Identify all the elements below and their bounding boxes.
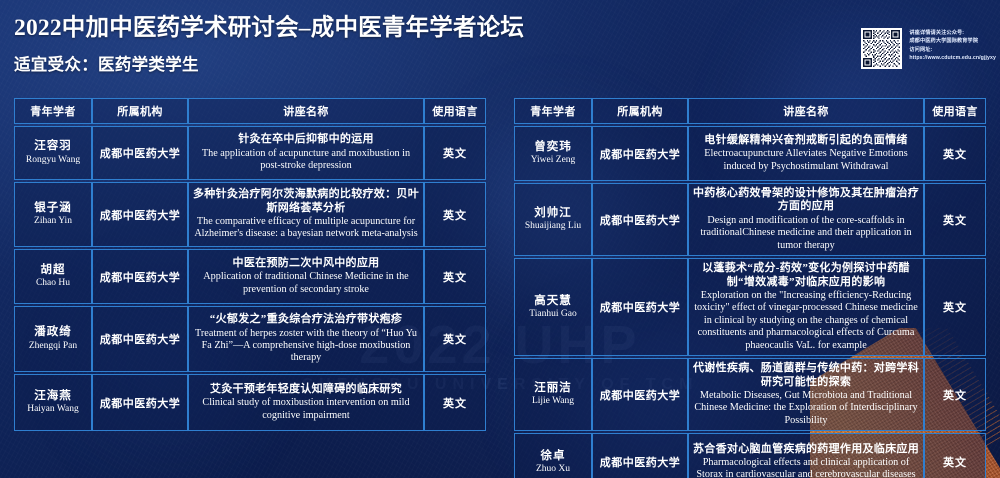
cell-scholar: 银子涵 Zihan Yin [14, 182, 92, 247]
scholar-name-zh: 高天慧 [517, 294, 589, 308]
cell-language: 英文 [924, 183, 986, 256]
scholar-name-en: Zhuo Xu [517, 464, 589, 476]
table-row[interactable]: 汪丽洁 Lijie Wang 成都中医药大学 代谢性疾病、肠道菌群与传统中药：对… [514, 358, 986, 431]
qr-caption-url[interactable]: https://www.cdutcm.edu.cn/gjjyxy [909, 54, 996, 62]
cell-topic: 针灸在卒中后抑郁中的运用 The application of acupunct… [188, 126, 424, 180]
cell-topic: 中医在预防二次中风中的应用 Application of traditional… [188, 249, 424, 304]
cell-organization: 成都中医药大学 [92, 249, 188, 304]
cell-language: 英文 [924, 433, 986, 478]
topic-en: Application of traditional Chinese Medic… [191, 271, 421, 296]
topic-en: Treatment of herpes zoster with the theo… [191, 328, 421, 365]
cell-scholar: 潘政绮 Zhengqi Pan [14, 306, 92, 372]
qr-caption-line-1: 讲座详情请关注公众号: [909, 29, 996, 37]
page-title: 2022中加中医药学术研讨会–成中医青年学者论坛 [14, 8, 524, 42]
cell-organization: 成都中医药大学 [592, 433, 688, 478]
cell-language: 英文 [424, 374, 486, 431]
scholar-name-zh: 潘政绮 [17, 325, 89, 339]
scholar-name-zh: 银子涵 [17, 201, 89, 215]
cell-language: 英文 [424, 126, 486, 180]
column-header-org: 所属机构 [592, 98, 688, 124]
cell-scholar: 刘帅江 Shuaijiang Liu [514, 183, 592, 256]
column-header-org: 所属机构 [92, 98, 188, 124]
topic-zh: “火郁发之”重灸综合疗法治疗带状疱疹 [191, 313, 421, 326]
cell-scholar: 曾奕玮 Yiwei Zeng [514, 126, 592, 181]
cell-language: 英文 [924, 358, 986, 431]
cell-organization: 成都中医药大学 [92, 374, 188, 431]
page-subtitle: 适宜受众：医药学类学生 [14, 51, 524, 75]
table-row[interactable]: 汪容羽 Rongyu Wang 成都中医药大学 针灸在卒中后抑郁中的运用 The… [14, 126, 486, 180]
topic-zh: 针灸在卒中后抑郁中的运用 [191, 133, 421, 146]
topic-en: Clinical study of moxibustion interventi… [191, 397, 421, 422]
qr-caption: 讲座详情请关注公众号: 成都中医药大学国际教育学院 访问网址: https://… [909, 28, 996, 63]
scholar-name-en: Haiyan Wang [17, 404, 89, 416]
topic-zh: 电针缓解精神兴奋剂戒断引起的负面情绪 [691, 134, 921, 147]
cell-topic: 代谢性疾病、肠道菌群与传统中药：对跨学科研究可能性的探索 Metabolic D… [688, 358, 924, 431]
scholar-name-en: Yiwei Zeng [517, 155, 589, 167]
cell-organization: 成都中医药大学 [592, 183, 688, 256]
cell-scholar: 汪丽洁 Lijie Wang [514, 358, 592, 431]
table-body: 曾奕玮 Yiwei Zeng 成都中医药大学 电针缓解精神兴奋剂戒断引起的负面情… [514, 126, 986, 478]
cell-language: 英文 [924, 258, 986, 356]
column-header-topic: 讲座名称 [688, 98, 924, 124]
cell-organization: 成都中医药大学 [592, 126, 688, 181]
scholar-name-zh: 刘帅江 [517, 206, 589, 220]
scholar-name-zh: 徐卓 [517, 449, 589, 463]
schedule-table-right: 青年学者 所属机构 讲座名称 使用语言 曾奕玮 Yiwei Zeng 成都中医药… [514, 96, 986, 478]
table-header-row: 青年学者 所属机构 讲座名称 使用语言 [514, 98, 986, 124]
table-row[interactable]: 潘政绮 Zhengqi Pan 成都中医药大学 “火郁发之”重灸综合疗法治疗带状… [14, 306, 486, 372]
qr-code-icon[interactable] [861, 28, 902, 69]
topic-zh: 中医在预防二次中风中的应用 [191, 257, 421, 270]
cell-scholar: 汪海燕 Haiyan Wang [14, 374, 92, 431]
topic-en: Pharmacological effects and clinical app… [691, 457, 921, 478]
cell-topic: 苏合香对心脑血管疾病的药理作用及临床应用 Pharmacological eff… [688, 433, 924, 478]
scholar-name-en: Lijie Wang [517, 396, 589, 408]
scholar-name-zh: 汪容羽 [17, 139, 89, 153]
schedule-table: 青年学者 所属机构 讲座名称 使用语言 曾奕玮 Yiwei Zeng 成都中医药… [514, 96, 986, 478]
table-row[interactable]: 高天慧 Tianhui Gao 成都中医药大学 以蓬莪术“成分-药效”变化为例探… [514, 258, 986, 356]
table-row[interactable]: 徐卓 Zhuo Xu 成都中医药大学 苏合香对心脑血管疾病的药理作用及临床应用 … [514, 433, 986, 478]
qr-caption-line-3: 访问网址: [909, 46, 996, 54]
cell-language: 英文 [924, 126, 986, 181]
cell-topic: 多种针灸治疗阿尔茨海默病的比较疗效：贝叶斯网络荟萃分析 The comparat… [188, 182, 424, 247]
scholar-name-en: Chao Hu [17, 278, 89, 290]
scholar-name-en: Rongyu Wang [17, 155, 89, 167]
scholar-name-en: Tianhui Gao [517, 309, 589, 321]
cell-organization: 成都中医药大学 [92, 126, 188, 180]
cell-organization: 成都中医药大学 [592, 258, 688, 356]
qr-caption-line-2: 成都中医药大学国际教育学院 [909, 37, 996, 45]
topic-zh: 艾灸干预老年轻度认知障碍的临床研究 [191, 383, 421, 396]
topic-en: Metabolic Diseases, Gut Microbiota and T… [691, 390, 921, 427]
cell-organization: 成都中医药大学 [92, 182, 188, 247]
column-header-scholar: 青年学者 [14, 98, 92, 124]
schedule-table: 青年学者 所属机构 讲座名称 使用语言 汪容羽 Rongyu Wang 成都中医… [14, 96, 486, 433]
cell-topic: 电针缓解精神兴奋剂戒断引起的负面情绪 Electroacupuncture Al… [688, 126, 924, 181]
topic-en: The comparative efficacy of multiple acu… [191, 216, 421, 241]
cell-scholar: 高天慧 Tianhui Gao [514, 258, 592, 356]
topic-zh: 多种针灸治疗阿尔茨海默病的比较疗效：贝叶斯网络荟萃分析 [191, 188, 421, 215]
cell-language: 英文 [424, 182, 486, 247]
table-header: 青年学者 所属机构 讲座名称 使用语言 [14, 98, 486, 124]
cell-topic: 中药核心药效骨架的设计修饰及其在肿瘤治疗方面的应用 Design and mod… [688, 183, 924, 256]
topic-zh: 以蓬莪术“成分-药效”变化为例探讨中药醋制“增效减毒”对临床应用的影响 [691, 262, 921, 289]
poster-canvas: 2022 UHP CHENGDU UNIVERSITY OF TCM 2022中… [0, 0, 1000, 478]
scholar-name-zh: 汪海燕 [17, 389, 89, 403]
cell-scholar: 汪容羽 Rongyu Wang [14, 126, 92, 180]
topic-en: The application of acupuncture and moxib… [191, 148, 421, 173]
column-header-language: 使用语言 [424, 98, 486, 124]
topic-en: Exploration on the "Increasing efficienc… [691, 290, 921, 352]
cell-organization: 成都中医药大学 [592, 358, 688, 431]
cell-organization: 成都中医药大学 [92, 306, 188, 372]
topic-zh: 苏合香对心脑血管疾病的药理作用及临床应用 [691, 443, 921, 456]
scholar-name-zh: 曾奕玮 [517, 140, 589, 154]
table-row[interactable]: 刘帅江 Shuaijiang Liu 成都中医药大学 中药核心药效骨架的设计修饰… [514, 183, 986, 256]
scholar-name-en: Zihan Yin [17, 216, 89, 228]
cell-scholar: 胡超 Chao Hu [14, 249, 92, 304]
table-row[interactable]: 银子涵 Zihan Yin 成都中医药大学 多种针灸治疗阿尔茨海默病的比较疗效：… [14, 182, 486, 247]
table-header: 青年学者 所属机构 讲座名称 使用语言 [514, 98, 986, 124]
column-header-language: 使用语言 [924, 98, 986, 124]
cell-language: 英文 [424, 306, 486, 372]
topic-en: Electroacupuncture Alleviates Negative E… [691, 148, 921, 173]
column-header-scholar: 青年学者 [514, 98, 592, 124]
cell-language: 英文 [424, 249, 486, 304]
cell-topic: 以蓬莪术“成分-药效”变化为例探讨中药醋制“增效减毒”对临床应用的影响 Expl… [688, 258, 924, 356]
scholar-name-en: Zhengqi Pan [17, 341, 89, 353]
table-header-row: 青年学者 所属机构 讲座名称 使用语言 [14, 98, 486, 124]
cell-topic: 艾灸干预老年轻度认知障碍的临床研究 Clinical study of moxi… [188, 374, 424, 431]
header: 2022中加中医药学术研讨会–成中医青年学者论坛 适宜受众：医药学类学生 [14, 8, 524, 75]
cell-scholar: 徐卓 Zhuo Xu [514, 433, 592, 478]
topic-en: Design and modification of the core-scaf… [691, 215, 921, 252]
table-body: 汪容羽 Rongyu Wang 成都中医药大学 针灸在卒中后抑郁中的运用 The… [14, 126, 486, 431]
cell-topic: “火郁发之”重灸综合疗法治疗带状疱疹 Treatment of herpes z… [188, 306, 424, 372]
column-header-topic: 讲座名称 [188, 98, 424, 124]
table-row[interactable]: 曾奕玮 Yiwei Zeng 成都中医药大学 电针缓解精神兴奋剂戒断引起的负面情… [514, 126, 986, 181]
table-row[interactable]: 汪海燕 Haiyan Wang 成都中医药大学 艾灸干预老年轻度认知障碍的临床研… [14, 374, 486, 431]
schedule-table-left: 青年学者 所属机构 讲座名称 使用语言 汪容羽 Rongyu Wang 成都中医… [14, 96, 486, 433]
scholar-name-zh: 胡超 [17, 263, 89, 277]
topic-zh: 代谢性疾病、肠道菌群与传统中药：对跨学科研究可能性的探索 [691, 362, 921, 389]
scholar-name-zh: 汪丽洁 [517, 381, 589, 395]
qr-info-block: 讲座详情请关注公众号: 成都中医药大学国际教育学院 访问网址: https://… [861, 28, 996, 69]
topic-zh: 中药核心药效骨架的设计修饰及其在肿瘤治疗方面的应用 [691, 187, 921, 214]
scholar-name-en: Shuaijiang Liu [517, 221, 589, 233]
table-row[interactable]: 胡超 Chao Hu 成都中医药大学 中医在预防二次中风中的应用 Applica… [14, 249, 486, 304]
